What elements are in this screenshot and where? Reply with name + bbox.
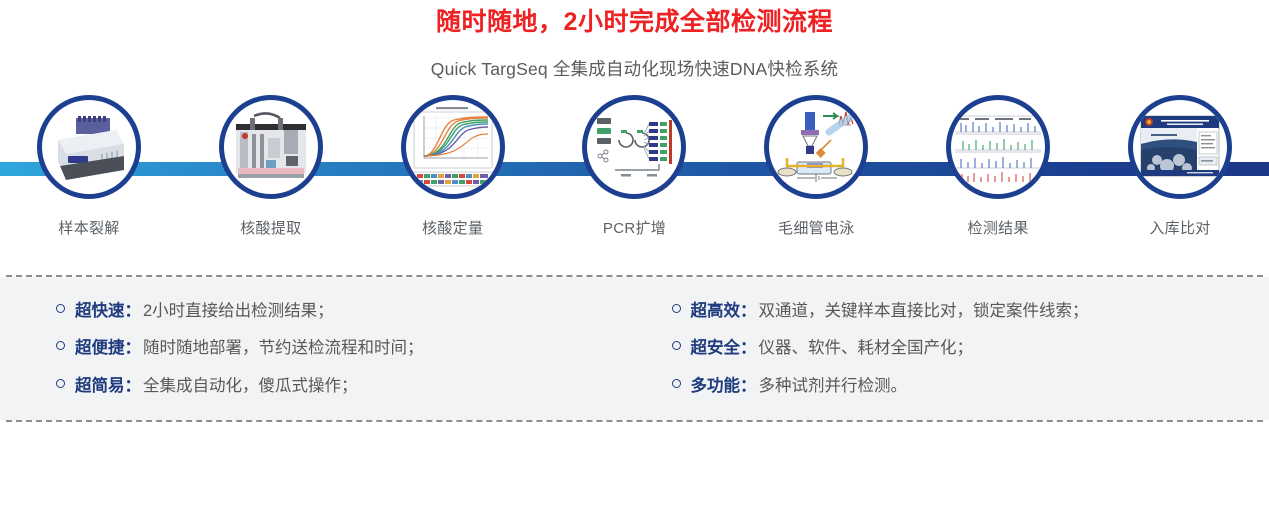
flow-step-3-circle[interactable] <box>401 95 505 199</box>
bullet-circle-icon <box>672 379 681 388</box>
feature-text: 双通道，关键样本直接比对，锁定案件线索； <box>759 302 1089 322</box>
flow-step-4-label: PCR扩增 <box>603 217 666 238</box>
bullet-circle-icon <box>56 304 65 313</box>
feature-text: 仪器、软件、耗材全国产化； <box>759 339 974 359</box>
feature-text: 随时随地部署，节约送检流程和时间； <box>143 339 424 359</box>
flow-step-3-label: 核酸定量 <box>422 217 483 238</box>
flow-step-1-circle[interactable] <box>37 95 141 199</box>
feature-text: 全集成自动化，傻瓜式操作； <box>143 377 358 397</box>
header: 随时随地，2小时完成全部检测流程 Quick TargSeq 全集成自动化现场快… <box>0 0 1269 81</box>
page-title: 随时随地，2小时完成全部检测流程 <box>0 6 1269 39</box>
flow-step-5-label: 毛细管电泳 <box>778 217 855 238</box>
amplification-curve-chart-icon <box>410 104 496 190</box>
features-column-right: 超高效： 双通道，关键样本直接比对，锁定案件线索； 超安全： 仪器、软件、耗材全… <box>654 293 1269 406</box>
feature-label: 多功能： <box>691 377 757 397</box>
feature-text: 2小时直接给出检测结果； <box>143 302 334 322</box>
feature-item: 超便捷： 随时随地部署，节约送检流程和时间； <box>56 330 654 368</box>
feature-label: 超简易： <box>75 377 141 397</box>
feature-item: 超高效： 双通道，关键样本直接比对，锁定案件线索； <box>672 293 1269 331</box>
flow-step-6-circle[interactable] <box>946 95 1050 199</box>
flow-step-2-circle[interactable] <box>219 95 323 199</box>
flow-step-2[interactable]: 核酸提取 <box>216 95 326 238</box>
bullet-circle-icon <box>56 341 65 350</box>
pcr-workflow-diagram-icon <box>591 104 677 190</box>
flow-step-1[interactable]: 样本裂解 <box>34 95 144 238</box>
feature-item: 超简易： 全集成自动化，傻瓜式操作； <box>56 368 654 406</box>
extraction-robot-icon <box>228 104 314 190</box>
feature-text: 多种试剂并行检测。 <box>759 377 908 397</box>
flow-step-4[interactable]: PCR扩增 <box>579 95 689 238</box>
bullet-circle-icon <box>672 304 681 313</box>
features-bottom-divider <box>6 420 1263 422</box>
flow-step-7[interactable]: 入库比对 <box>1125 95 1235 238</box>
database-comparison-screen-icon <box>1137 104 1223 190</box>
flow-step-6[interactable]: 检测结果 <box>943 95 1053 238</box>
process-flow: 样本裂解 <box>0 95 1269 275</box>
feature-item: 多功能： 多种试剂并行检测。 <box>672 368 1269 406</box>
flow-step-7-circle[interactable] <box>1128 95 1232 199</box>
features-column-left: 超快速： 2小时直接给出检测结果； 超便捷： 随时随地部署，节约送检流程和时间；… <box>0 293 654 406</box>
lysis-instrument-icon <box>46 104 132 190</box>
flow-step-4-circle[interactable] <box>582 95 686 199</box>
flow-step-1-label: 样本裂解 <box>58 217 119 238</box>
feature-label: 超安全： <box>691 339 757 359</box>
feature-label: 超便捷： <box>75 339 141 359</box>
page-subtitle: Quick TargSeq 全集成自动化现场快速DNA快检系统 <box>0 39 1269 81</box>
feature-item: 超快速： 2小时直接给出检测结果； <box>56 293 654 331</box>
bullet-circle-icon <box>672 341 681 350</box>
feature-label: 超高效： <box>691 302 757 322</box>
flow-step-5-circle[interactable] <box>764 95 868 199</box>
features-panel: 超快速： 2小时直接给出检测结果； 超便捷： 随时随地部署，节约送检流程和时间；… <box>0 277 1269 420</box>
feature-label: 超快速： <box>75 302 141 322</box>
electropherogram-result-icon <box>955 104 1041 190</box>
capillary-electrophoresis-schematic-icon <box>773 104 859 190</box>
flow-step-list: 样本裂解 <box>0 95 1269 238</box>
flow-step-6-label: 检测结果 <box>968 217 1029 238</box>
flow-step-7-label: 入库比对 <box>1149 217 1210 238</box>
flow-step-5[interactable]: 毛细管电泳 <box>761 95 871 238</box>
flow-step-3[interactable]: 核酸定量 <box>398 95 508 238</box>
flow-step-2-label: 核酸提取 <box>240 217 301 238</box>
feature-item: 超安全： 仪器、软件、耗材全国产化； <box>672 330 1269 368</box>
bullet-circle-icon <box>56 379 65 388</box>
